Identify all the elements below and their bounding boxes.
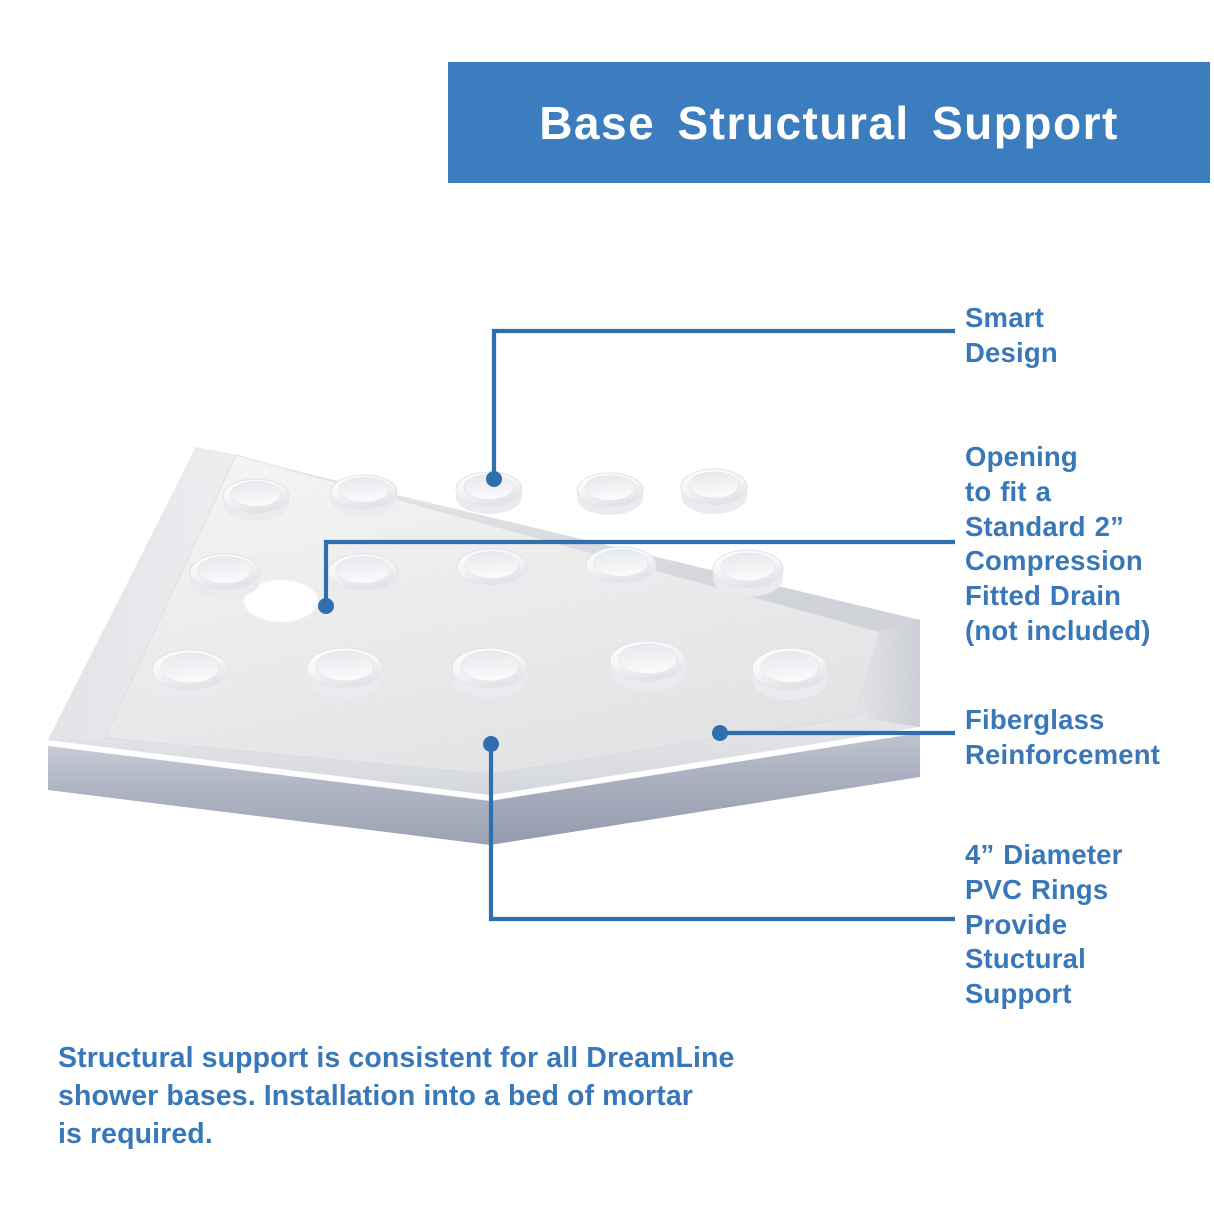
callout-line: Smart [965, 301, 1210, 336]
callout-line: Stuctural [965, 942, 1214, 977]
footer-line: is required. [58, 1116, 818, 1154]
callout-line: Provide [965, 908, 1214, 943]
callout-label-smart-design: Smart Design [965, 301, 1210, 371]
pvc-ring [586, 547, 656, 592]
pvc-ring [681, 469, 747, 514]
callout-line: 4” Diameter [965, 838, 1214, 873]
callout-line: Opening [965, 440, 1214, 475]
leader-line-smart-design [494, 331, 955, 479]
pvc-ring [152, 650, 228, 700]
pvc-ring [752, 648, 828, 700]
callout-line: Reinforcement [965, 738, 1214, 773]
pvc-ring [190, 554, 260, 599]
callout-line: Standard 2” [965, 510, 1214, 545]
leader-dot-drain [318, 598, 334, 614]
leader-dot-pvc-rings [483, 736, 499, 752]
callout-line: PVC Rings [965, 873, 1214, 908]
leader-dot-fiberglass [712, 725, 728, 741]
callout-line: Compression [965, 544, 1214, 579]
pvc-ring [331, 475, 397, 517]
pvc-ring [610, 641, 686, 691]
pvc-ring [328, 554, 398, 599]
pvc-ring [457, 549, 527, 594]
callout-line: Design [965, 336, 1210, 371]
callout-line: Fiberglass [965, 703, 1214, 738]
footer-line: Structural support is consistent for all… [58, 1040, 818, 1078]
callout-line: to fit a [965, 475, 1214, 510]
callout-label-fiberglass-reinforcement: Fiberglass Reinforcement [965, 703, 1214, 773]
callout-label-pvc-rings: 4” Diameter PVC Rings Provide Stuctural … [965, 838, 1214, 1012]
pvc-ring [307, 648, 383, 698]
leader-dot-smart-design [486, 471, 502, 487]
pvc-ring [577, 473, 643, 515]
pvc-ring [452, 648, 528, 698]
callout-line: (not included) [965, 614, 1214, 649]
callout-line: Support [965, 977, 1214, 1012]
callout-line: Fitted Drain [965, 579, 1214, 614]
pvc-ring [713, 550, 783, 597]
pvc-ring [223, 479, 289, 521]
footer-note: Structural support is consistent for all… [58, 1040, 818, 1154]
footer-line: shower bases. Installation into a bed of… [58, 1078, 818, 1116]
callout-label-drain-opening: Opening to fit a Standard 2” Compression… [965, 440, 1214, 649]
